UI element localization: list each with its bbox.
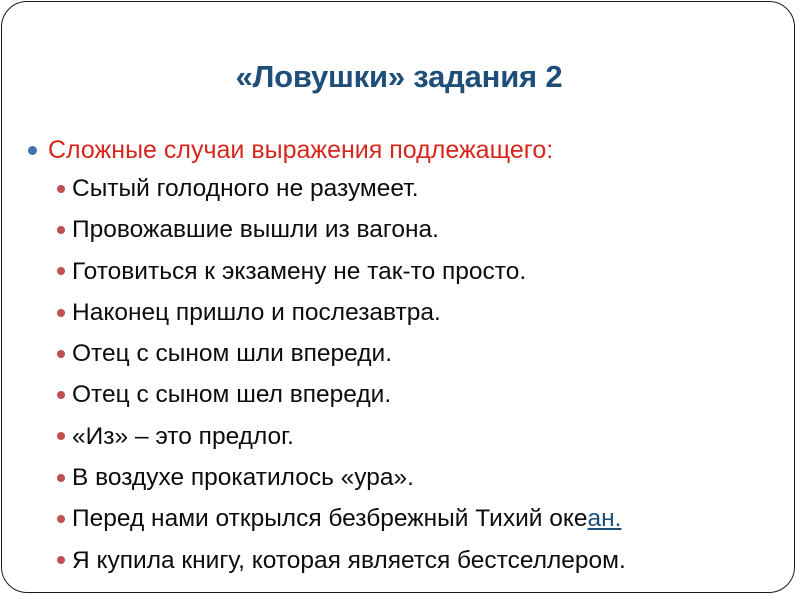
bullet-dot-red-icon (57, 309, 65, 317)
bullet-level2-item-4[interactable]: Наконец пришло и послезавтра. (2, 292, 795, 333)
bullet-level2-label: Сытый голодного не разумеет. (72, 175, 419, 202)
bullet-dot-red-icon (57, 515, 65, 523)
bullet-dot-blue-icon (28, 146, 37, 155)
bullet-level2-item-6[interactable]: Отец с сыном шел впереди. (2, 374, 795, 415)
bullet-level2-item-5[interactable]: Отец с сыном шли впереди. (2, 333, 795, 374)
bullet-dot-red-icon (57, 391, 65, 399)
bullet-level2-label: В воздухе прокатилось «ура». (72, 464, 414, 491)
bullet-level2-label: Готовиться к экзамену не так-то просто. (72, 258, 526, 285)
bullet-level2-label: Перед нами открылся безбрежный Тихий оке… (72, 505, 621, 532)
bullet-level1[interactable]: Сложные случаи выражения подлежащего: (2, 132, 795, 168)
bullet-level2-item-10[interactable]: Я купила книгу, которая является бестсел… (2, 540, 795, 581)
bullet-dot-red-icon (57, 267, 65, 275)
bullet-dot-red-icon (57, 185, 65, 193)
hyperlink-run[interactable]: ан. (588, 505, 622, 532)
bullet-level2-label-plain: Перед нами открылся безбрежный Тихий оке (72, 505, 588, 532)
bullet-level2-item-7[interactable]: «Из» – это предлог. (2, 416, 795, 457)
bullet-dot-red-icon (57, 350, 65, 358)
bullet-level2-item-8[interactable]: В воздухе прокатилось «ура». (2, 457, 795, 498)
bullet-level1-label: Сложные случаи выражения подлежащего: (48, 136, 553, 164)
bullet-dot-red-icon (57, 226, 65, 234)
bullet-level2-label: Отец с сыном шел впереди. (72, 381, 391, 408)
bullet-level2-label: Наконец пришло и послезавтра. (72, 299, 441, 326)
bullet-level2-label: Я купила книгу, которая является бестсел… (72, 547, 626, 574)
bullet-level2-item-2[interactable]: Провожавшие вышли из вагона. (2, 209, 795, 250)
bullet-level2-item-3[interactable]: Готовиться к экзамену не так-то просто. (2, 251, 795, 292)
bullet-dot-red-icon (57, 474, 65, 482)
bullet-level2-label: Провожавшие вышли из вагона. (72, 216, 439, 243)
slide-title: «Ловушки» задания 2 (2, 60, 795, 93)
slide-canvas: «Ловушки» задания 2 Сложные случаи выраж… (1, 1, 795, 593)
bullet-level2-label: Отец с сыном шли впереди. (72, 340, 392, 367)
bullet-dot-red-icon (57, 432, 65, 440)
bullet-dot-red-icon (57, 556, 65, 564)
bullet-level2-item-9[interactable]: Перед нами открылся безбрежный Тихий оке… (2, 498, 795, 539)
bullet-level2-label: «Из» – это предлог. (72, 423, 294, 450)
slide-body-list: Сложные случаи выражения подлежащего: Сы… (2, 132, 795, 581)
bullet-level2-item-1[interactable]: Сытый голодного не разумеет. (2, 168, 795, 209)
